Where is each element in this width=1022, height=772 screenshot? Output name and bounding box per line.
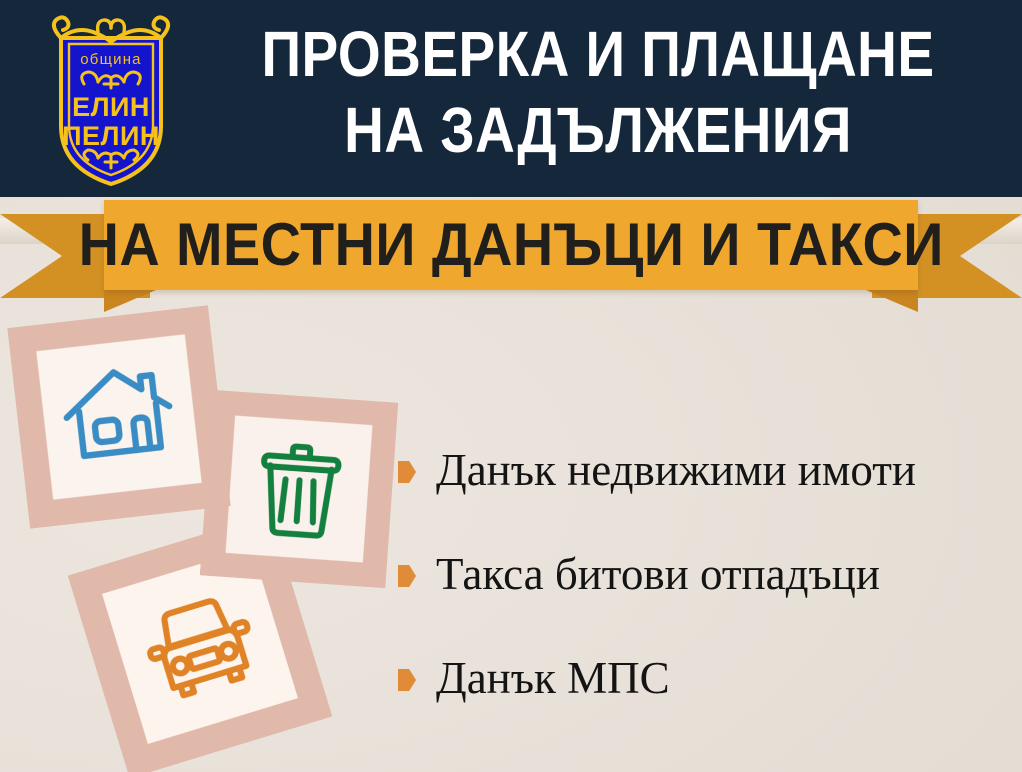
list-item-label: Данък недвижими имоти: [436, 445, 916, 495]
title-line-2: НА ЗАДЪЛЖЕНИЯ: [247, 92, 949, 168]
bullet-arrow-icon: [398, 461, 416, 483]
coat-of-arms-icon: община ЕЛИН ПЕЛИН: [38, 8, 184, 190]
ribbon-fold-left: [104, 290, 156, 312]
tax-type-list: Данък недвижими имоти Такса битови отпад…: [398, 418, 1008, 730]
ribbon-fold-right: [866, 290, 918, 312]
svg-text:ЕЛИН: ЕЛИН: [72, 92, 150, 122]
bullet-arrow-icon: [398, 669, 416, 691]
list-item-label: Данък МПС: [436, 653, 670, 703]
bullet-arrow-icon: [398, 565, 416, 587]
trash-bin-icon: [241, 431, 356, 546]
house-icon: [54, 352, 184, 482]
poster-canvas: община ЕЛИН ПЕЛИН: [0, 0, 1022, 772]
list-item-label: Такса битови отпадъци: [436, 549, 880, 599]
list-item[interactable]: Данък недвижими имоти: [398, 418, 1008, 522]
title-line-1: ПРОВЕРКА И ПЛАЩАНЕ: [247, 16, 949, 92]
car-icon: [123, 569, 277, 723]
list-item[interactable]: Такса битови отпадъци: [398, 522, 1008, 626]
ribbon-label: НА МЕСТНИ ДАНЪЦИ И ТАКСИ: [78, 215, 943, 275]
ribbon-banner: НА МЕСТНИ ДАНЪЦИ И ТАКСИ: [104, 200, 918, 290]
list-item[interactable]: Данък МПС: [398, 626, 1008, 730]
stamp-house: [7, 305, 231, 529]
svg-text:община: община: [80, 51, 141, 68]
svg-text:ПЕЛИН: ПЕЛИН: [62, 121, 160, 151]
stamp-trash: [200, 390, 399, 589]
subtitle-ribbon: НА МЕСТНИ ДАНЪЦИ И ТАКСИ: [0, 196, 1022, 306]
poster-title: ПРОВЕРКА И ПЛАЩАНЕ НА ЗАДЪЛЖЕНИЯ: [190, 16, 1006, 168]
header-bar: община ЕЛИН ПЕЛИН: [0, 0, 1022, 197]
